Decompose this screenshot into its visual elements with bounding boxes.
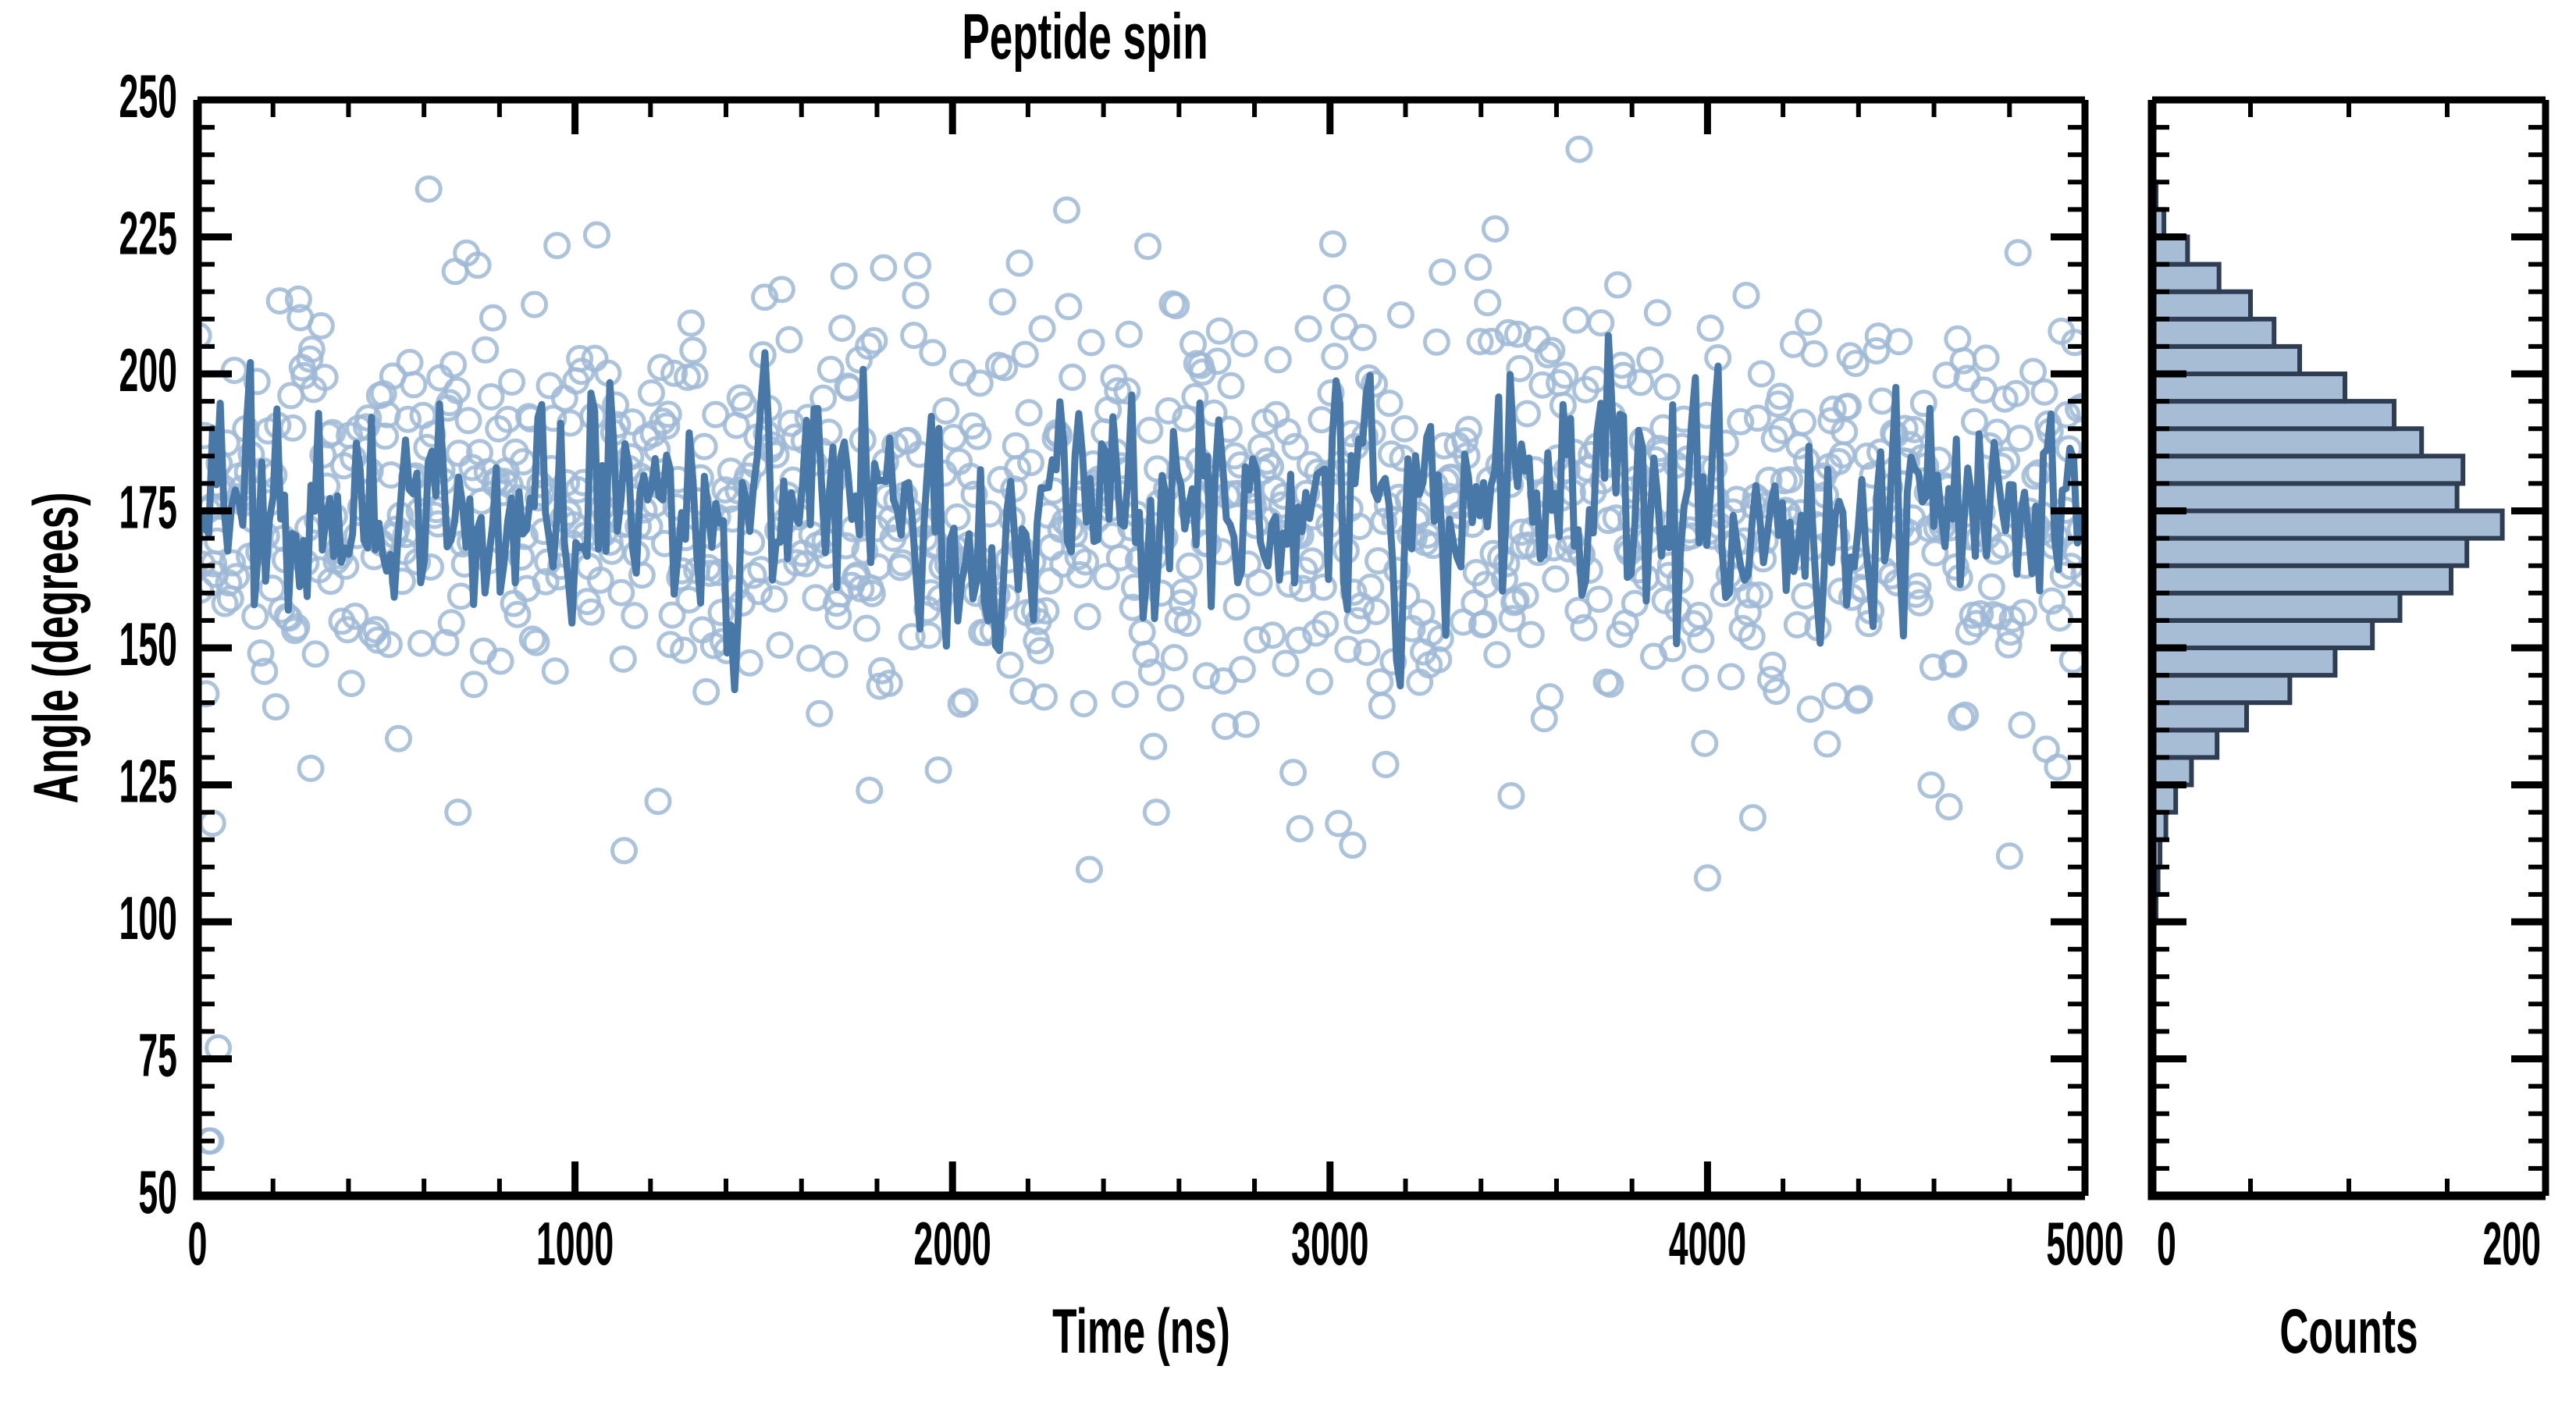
y-axis-title: Angle (degrees) (21, 493, 91, 804)
figure-canvas: Peptide spin 010002000300040005000507510… (0, 0, 2576, 1405)
y-tick-label: 150 (119, 611, 177, 678)
x-tick-label: 0 (188, 1211, 208, 1278)
x-tick-label: 3000 (1291, 1211, 1368, 1278)
x-tick-label: 5000 (2046, 1211, 2123, 1278)
x-tick-label: 1000 (536, 1211, 614, 1278)
y-tick-label: 100 (119, 885, 177, 952)
y-tick-label: 200 (119, 337, 177, 404)
x-axis-title-main: Time (ns) (1052, 1297, 1230, 1367)
y-tick-label: 75 (138, 1023, 177, 1090)
x-tick-label: 4000 (1669, 1211, 1746, 1278)
chart-title: Peptide spin (962, 0, 1208, 73)
y-tick-label: 50 (138, 1159, 177, 1226)
y-tick-label: 175 (119, 475, 177, 542)
x-axis-title-hist: Counts (2279, 1297, 2418, 1367)
y-tick-label: 125 (119, 749, 177, 816)
hist-tick-label: 0 (2157, 1211, 2176, 1278)
y-tick-label: 225 (119, 201, 177, 268)
y-tick-label: 250 (119, 63, 177, 130)
hist-tick-label: 200 (2483, 1211, 2541, 1278)
chart-svg: Peptide spin 010002000300040005000507510… (0, 0, 2576, 1405)
x-tick-label: 2000 (914, 1211, 991, 1278)
